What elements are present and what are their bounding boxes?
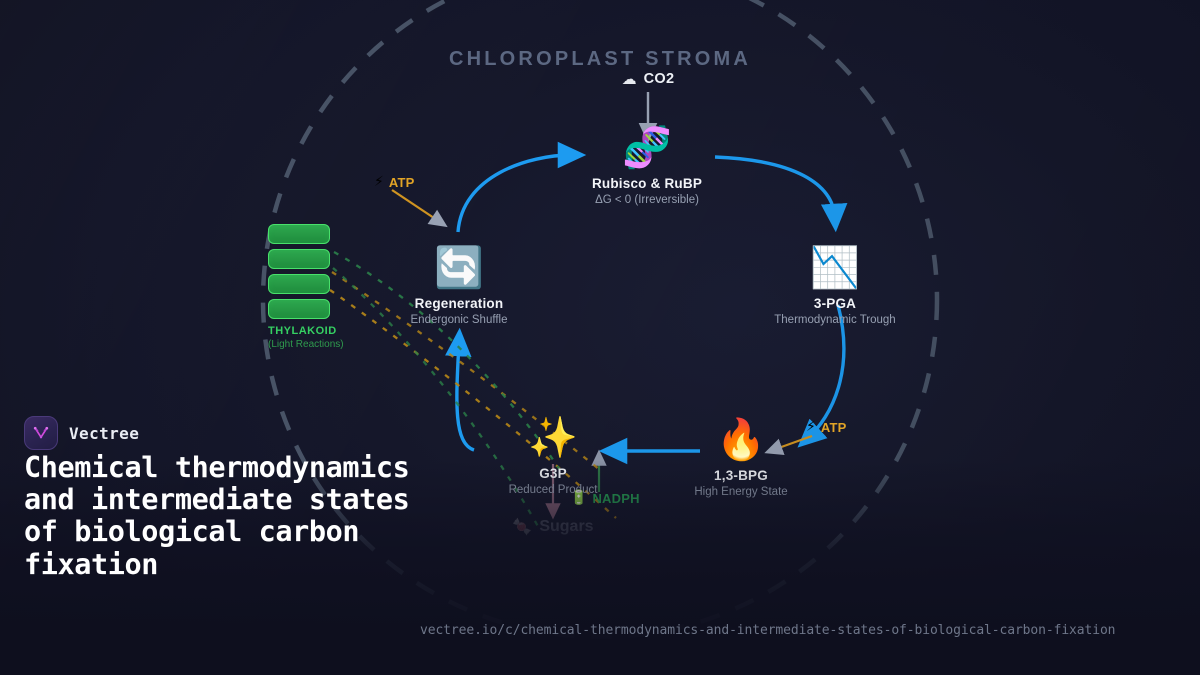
cofactor-atp-bpg: ⚡ ATP bbox=[806, 419, 846, 435]
cofactor-label: ATP bbox=[821, 420, 847, 435]
arrow-atp-to-regeneration bbox=[392, 190, 440, 222]
output-sugars-label: Sugars bbox=[539, 518, 593, 536]
thylakoid-disc bbox=[268, 249, 330, 269]
output-sugars: 🍬 Sugars bbox=[512, 517, 593, 536]
diagram-canvas: CHLOROPLAST STROMA ☁ CO2 🧬 Rubisco & RuB… bbox=[0, 0, 1200, 675]
lightning-icon: ⚡ bbox=[806, 419, 816, 435]
brand-block: Vectree bbox=[24, 416, 139, 450]
cofactor-label: ATP bbox=[389, 175, 415, 190]
compartment-label: CHLOROPLAST STROMA bbox=[449, 48, 751, 71]
thylakoid-sublabel: (Light Reactions) bbox=[268, 339, 388, 350]
brand-name: Vectree bbox=[69, 424, 139, 443]
cofactor-label: NADPH bbox=[592, 491, 639, 506]
chart-decreasing-icon: 📉 bbox=[720, 245, 950, 291]
cofactor-atp-regeneration: ⚡ ATP bbox=[374, 174, 414, 190]
thylakoid-disc bbox=[268, 274, 330, 294]
node-3-pga[interactable]: 📉 3-PGA Thermodynamic Trough bbox=[720, 245, 950, 326]
candy-icon: 🍬 bbox=[512, 517, 532, 536]
vectree-logo-icon bbox=[24, 416, 58, 450]
thylakoid-disc bbox=[268, 299, 330, 319]
input-co2: ☁ CO2 bbox=[622, 70, 675, 88]
sparkles-icon: ✨ bbox=[438, 415, 668, 461]
node-title: G3P bbox=[438, 466, 668, 481]
node-title: 3-PGA bbox=[720, 296, 950, 311]
thylakoid-label: THYLAKOID bbox=[268, 325, 388, 337]
input-co2-label: CO2 bbox=[644, 71, 675, 87]
node-g3p[interactable]: ✨ G3P Reduced Product bbox=[438, 415, 668, 496]
cofactor-nadph-g3p: 🔋 NADPH bbox=[570, 490, 640, 506]
page-title: Chemical thermodynamics and intermediate… bbox=[24, 452, 454, 581]
node-subtitle: ΔG < 0 (Irreversible) bbox=[532, 194, 762, 206]
cloud-icon: ☁ bbox=[622, 70, 637, 88]
node-subtitle: Thermodynamic Trough bbox=[720, 314, 950, 326]
footer-url: vectree.io/c/chemical-thermodynamics-and… bbox=[420, 623, 1115, 638]
node-title: Rubisco & RuBP bbox=[532, 176, 762, 191]
thylakoid-stack[interactable]: THYLAKOID (Light Reactions) bbox=[268, 224, 388, 350]
node-rubisco[interactable]: 🧬 Rubisco & RuBP ΔG < 0 (Irreversible) bbox=[532, 125, 762, 206]
dna-icon: 🧬 bbox=[532, 125, 762, 171]
thylakoid-disc bbox=[268, 224, 330, 244]
lightning-icon: ⚡ bbox=[374, 174, 384, 190]
battery-icon: 🔋 bbox=[570, 490, 587, 506]
